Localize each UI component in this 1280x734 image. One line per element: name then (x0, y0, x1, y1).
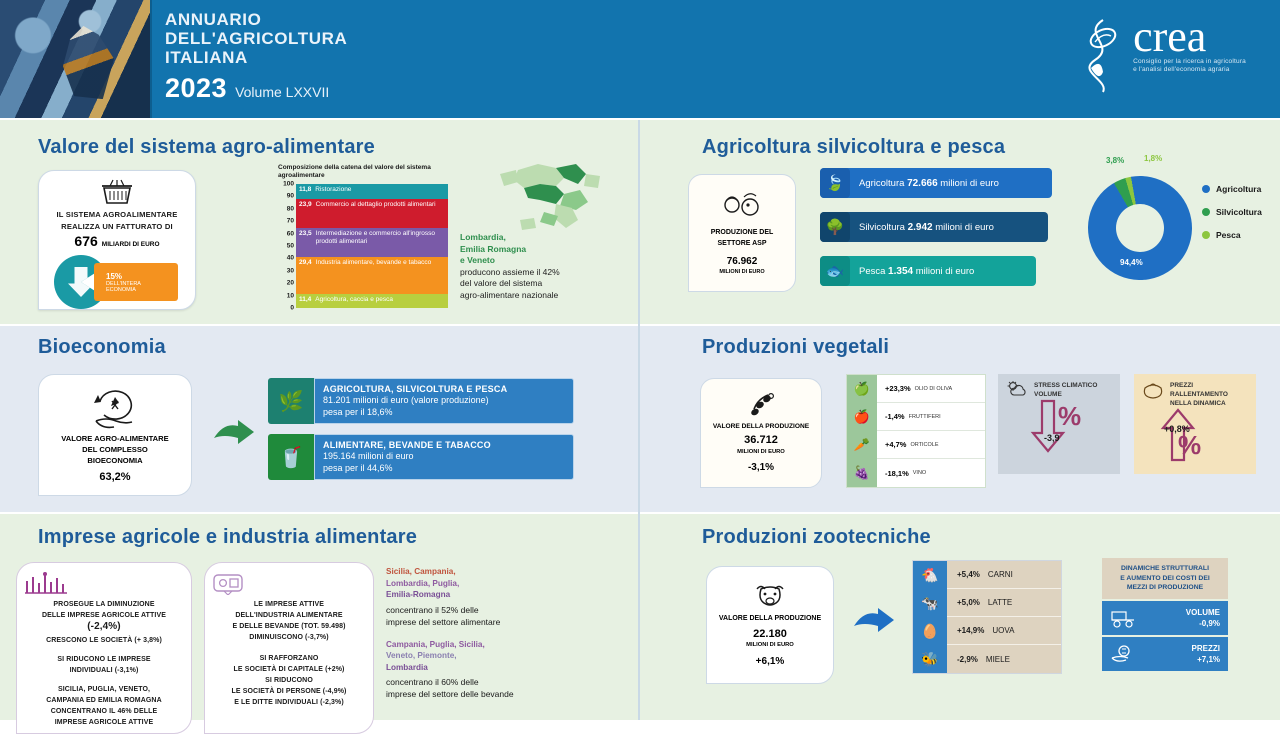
asp-card-unit: MILIONI DI EURO (719, 269, 764, 275)
weather-icon (1006, 381, 1028, 399)
dinamiche-prezzi-value: +7,1% (1192, 654, 1220, 665)
legend-item: Agricoltura (1202, 184, 1262, 194)
imp-right-p2d: LE SOCIETÀ DI PERSONE (-4,9%) (211, 686, 367, 697)
bio-card-line3: BIOECONOMIA (61, 455, 168, 466)
dinamiche-volume-label: VOLUME (1186, 607, 1220, 618)
zootecniche-label: CARNI (988, 570, 1013, 579)
asp-bar-label: Pesca 1.354 milioni di euro (850, 266, 974, 277)
bio-card-line2: DEL COMPLESSO (61, 444, 168, 455)
panel-title-vegetali: Produzioni vegetali (702, 336, 889, 359)
card-industria-alimentare: LE IMPRESE ATTIVE DELL'INDUSTRIA ALIMENT… (204, 562, 374, 734)
dinamiche-head-3: MEZZI DI PRODUZIONE (1106, 583, 1224, 593)
prezzi-line2: RALLENTAMENTO NELLA DINAMICA (1170, 390, 1250, 408)
panel-produzioni-zootecniche: Produzioni zootecniche VALORE DELLA PROD… (640, 514, 1280, 720)
asp-bar-pesca: 🐟Pesca 1.354 milioni di euro (820, 256, 1036, 286)
tractor-icon (1110, 608, 1136, 628)
donut-label-agricoltura: 94,4% (1120, 258, 1143, 267)
vegetable-icon: 🥕 (847, 431, 877, 459)
drink-regions-line3: Lombardia (386, 662, 586, 674)
bio-card-value: 63,2% (99, 471, 130, 483)
card-fatturato-unit: MILIARDI DI EURO (102, 241, 160, 248)
imp-right-p2e: E LE DITTE INDIVIDUALI (-2,3%) (211, 697, 367, 708)
chart-segment: 29,4Industria alimentare, bevande e taba… (296, 257, 448, 293)
box-prezzi: PREZZI RALLENTAMENTO NELLA DINAMICA % +0… (1134, 374, 1256, 474)
clima-value: -3,9 (1044, 433, 1060, 443)
vegetali-icon-column: 🍏🍎🥕🍇 (847, 375, 877, 487)
eggs-icon: 🥚 (913, 617, 947, 645)
food-regions-line1: Sicilia, Campania, (386, 566, 586, 578)
food-regions-line3: Emilia-Romagna (386, 589, 586, 601)
map-caption-l3: agro-alimentare nazionale (460, 290, 630, 302)
panel-agricoltura-silvicoltura-pesca: Agricoltura silvicoltura e pesca PRODUZI… (640, 120, 1280, 324)
donut-legend: AgricolturaSilvicolturaPesca (1202, 184, 1262, 253)
dinamiche-head-1: DINAMICHE STRUTTURALI (1106, 564, 1224, 574)
clima-line2: VOLUME (1034, 390, 1097, 399)
food-regions-line2: Lombardia, Puglia, (386, 578, 586, 590)
chart-segment: 23,5Intermediazione e commercio all'ingr… (296, 228, 448, 257)
share-tag-label-2: ECONOMIA (106, 287, 178, 293)
legend-item: Pesca (1202, 230, 1262, 240)
legend-label: Agricoltura (1216, 184, 1261, 194)
donut-label-silvicoltura: 3,8% (1106, 156, 1124, 165)
imp-left-p3a: SI RIDUCONO LE IMPRESE (23, 654, 185, 665)
zootecniche-rows: +5,4%CARNI+5,0%LATTE+14,9%UOVA-2,9%MIELE (947, 561, 1061, 673)
infographic-page: ANNUARIO DELL'AGRICOLTURA ITALIANA 2023 … (0, 0, 1280, 720)
share-tag-value: 15% (106, 272, 178, 281)
dinamiche-strutturali-box: DINAMICHE STRUTTURALI E AUMENTO DEI COST… (1102, 558, 1228, 671)
card-valore-zootecniche: VALORE DELLA PRODUZIONE 22.180 MILIONI D… (706, 566, 834, 684)
zoo-card-unit: MILIONI DI EURO (746, 642, 794, 648)
axis-tick: 40 (287, 255, 294, 262)
card-bioeconomia: VALORE AGRO-ALIMENTARE DEL COMPLESSO BIO… (38, 374, 192, 496)
imp-right-p2a: SI RAFFORZANO (211, 653, 367, 664)
zootecniche-row: +5,0%LATTE (947, 589, 1061, 617)
drink-regions-line1: Campania, Puglia, Sicilia, (386, 639, 586, 651)
map-block: Lombardia, Emilia Romagna e Veneto produ… (460, 160, 630, 301)
drink-regions-text2: imprese del settore delle bevande (386, 688, 586, 700)
olive-icon: 🍏 (847, 375, 877, 403)
zoo-card-amount: 22.180 (753, 628, 787, 640)
imp-left-p4a: SICILIA, PUGLIA, VENETO, (23, 684, 185, 695)
card-fatturato-line2: REALIZZA UN FATTURATO DI (61, 221, 173, 233)
zootecniche-value: -2,9% (957, 655, 978, 664)
imp-left-p1b: DELLE IMPRESE AGRICOLE ATTIVE (23, 610, 185, 621)
card-produzione-asp: PRODUZIONE DEL SETTORE ASP 76.962 MILION… (688, 174, 796, 292)
chart-title: Composizione della catena del valore del… (278, 164, 446, 180)
zootecniche-row: -2,9%MIELE (947, 645, 1061, 673)
axis-tick: 60 (287, 230, 294, 237)
panel-bioeconomia: Bioeconomia VALORE AGRO-ALIMENTARE DEL C… (0, 326, 638, 512)
zootecniche-row: +14,9%UOVA (947, 617, 1061, 645)
panel-produzioni-vegetali: Produzioni vegetali VALORE DELLA PRODUZI… (640, 326, 1280, 512)
imp-right-p1b: DELL'INDUSTRIA ALIMENTARE (211, 610, 367, 621)
zootecniche-value: +14,9% (957, 626, 984, 635)
vegetali-item-list: 🍏🍎🥕🍇 +23,3%OLIO DI OLIVA-1,4%FRUTTIFERI+… (846, 374, 986, 488)
clima-percent-symbol: % (1058, 401, 1081, 432)
bio-row-line2: pesa per il 44,6% (323, 462, 565, 474)
asp-icon (720, 191, 764, 221)
chart-y-axis: 100 90 80 70 60 50 40 30 20 10 0 (278, 184, 296, 308)
zootecniche-value: +5,4% (957, 570, 980, 579)
prezzi-arrow-graphic: % +0,8% (1134, 408, 1256, 464)
food-regions-text1: concentrano il 52% delle (386, 604, 586, 616)
segment-label: Agricoltura, caccia e pesca (315, 296, 393, 304)
box-stress-climatico: STRESS CLIMATICO VOLUME % -3,9 (998, 374, 1120, 474)
panel-title-asp: Agricoltura silvicoltura e pesca (702, 136, 1005, 159)
clima-arrow-graphic: % -3,9 (998, 399, 1120, 455)
pesca-icon: 🐟 (820, 256, 850, 286)
farm-icon (23, 571, 185, 595)
card-fatturato-amount: 676 (74, 233, 97, 249)
italy-map-icon (460, 160, 630, 232)
axis-tick: 20 (287, 280, 294, 287)
axis-tick: 50 (287, 243, 294, 250)
veg-card-amount: 36.712 (744, 434, 778, 446)
regions-block: Sicilia, Campania, Lombardia, Puglia, Em… (386, 566, 586, 700)
clima-line1: STRESS CLIMATICO (1034, 381, 1097, 390)
purse-icon (1142, 381, 1164, 408)
segment-value: 23,5 (299, 230, 312, 237)
card-fatturato: IL SISTEMA AGROALIMENTARE REALIZZA UN FA… (38, 170, 196, 310)
segment-value: 23,9 (299, 201, 312, 208)
legend-label: Pesca (1216, 230, 1241, 240)
bioeconomia-row-0: 🌿AGRICOLTURA, SILVICOLTURA E PESCA81.201… (268, 378, 574, 424)
zootecniche-value: +5,0% (957, 598, 980, 607)
segment-label: Commercio al dettaglio prodotti alimenta… (316, 201, 436, 209)
axis-tick: 30 (287, 267, 294, 274)
share-graphic: 15% DELL'INTERA ECONOMIA (54, 255, 180, 309)
bio-row-line1: 195.164 milioni di euro (323, 450, 565, 462)
dinamiche-header: DINAMICHE STRUTTURALI E AUMENTO DEI COST… (1102, 558, 1228, 599)
zootecniche-icon-column: 🐔🐄🥚🐝 (913, 561, 947, 673)
legend-swatch (1202, 185, 1210, 193)
vegetali-row: -18,1%VINO (877, 459, 985, 487)
zootecniche-item-list: 🐔🐄🥚🐝 +5,4%CARNI+5,0%LATTE+14,9%UOVA-2,9%… (912, 560, 1062, 674)
page-header: ANNUARIO DELL'AGRICOLTURA ITALIANA 2023 … (0, 0, 1280, 118)
imp-right-p1a: LE IMPRESE ATTIVE (211, 599, 367, 610)
agricoltura-icon: 🍃 (820, 168, 850, 198)
segment-value: 29,4 (299, 259, 312, 266)
zootecniche-row: +5,4%CARNI (947, 561, 1061, 589)
imp-right-p1c: E DELLE BEVANDE (TOT. 59.498) (211, 621, 367, 632)
vegetali-value: +23,3% (885, 384, 911, 393)
asp-bar-agricoltura: 🍃Agricoltura 72.666 milioni di euro (820, 168, 1052, 198)
drink-regions-text1: concentrano il 60% delle (386, 676, 586, 688)
panel-title-valore: Valore del sistema agro-alimentare (38, 136, 375, 159)
crea-logo: crea Consiglio per la ricerca in agricol… (1073, 16, 1246, 96)
asp-card-amount: 76.962 (727, 256, 758, 267)
axis-tick: 0 (290, 305, 294, 312)
vegetali-label: VINO (913, 470, 926, 476)
bio-row-head: AGRICOLTURA, SILVICOLTURA E PESCA (323, 384, 565, 394)
legend-swatch (1202, 231, 1210, 239)
prezzi-line1: PREZZI (1170, 381, 1250, 390)
chart-segment: 11,8Ristorazione (296, 184, 448, 199)
vegetali-label: FRUTTIFERI (909, 414, 941, 420)
vegetali-value: +4,7% (885, 440, 906, 449)
map-regions: Lombardia, Emilia Romagna e Veneto (460, 232, 630, 267)
vegetali-rows: +23,3%OLIO DI OLIVA-1,4%FRUTTIFERI+4,7%O… (877, 375, 985, 487)
imp-right-p2c: SI RIDUCONO (211, 675, 367, 686)
food-regions-text2: imprese del settore alimentare (386, 616, 586, 628)
chart-segment: 11,4Agricoltura, caccia e pesca (296, 294, 448, 308)
vegetali-label: OLIO DI OLIVA (915, 386, 953, 392)
publication-title: ANNUARIO DELL'AGRICOLTURA ITALIANA 2023 … (165, 10, 347, 104)
imp-left-p2: CRESCONO LE SOCIETÀ (+ 3,8%) (23, 635, 185, 646)
legend-label: Silvicoltura (1216, 207, 1262, 217)
panel-title-imprese: Imprese agricole e industria alimentare (38, 526, 417, 549)
imp-right-p2b: LE SOCIETÀ DI CAPITALE (+2%) (211, 664, 367, 675)
axis-tick: 10 (287, 292, 294, 299)
imp-right-p1d: DIMINUISCONO (-3,7%) (211, 632, 367, 643)
chart-segment: 23,9Commercio al dettaglio prodotti alim… (296, 199, 448, 229)
dinamiche-prezzi-label: PREZZI (1192, 643, 1220, 654)
legend-item: Silvicoltura (1202, 207, 1262, 217)
drink-regions-line2: Veneto, Piemonte, (386, 650, 586, 662)
grape-icon: 🍇 (847, 459, 877, 487)
fruit-icon: 🍎 (847, 403, 877, 431)
factory-icon (211, 571, 367, 595)
title-line-1: ANNUARIO (165, 10, 347, 29)
vegetali-label: ORTICOLE (910, 442, 938, 448)
axis-tick: 90 (287, 193, 294, 200)
cow-head-icon: 🐄 (913, 589, 947, 617)
veg-card-unit: MILIONI DI EURO (737, 449, 785, 455)
crea-wordmark: crea (1133, 16, 1246, 58)
crea-helix-icon (1073, 16, 1125, 96)
segment-label: Intermediazione e commercio all'ingrosso… (316, 230, 445, 246)
vegetali-value: -18,1% (885, 469, 909, 478)
segment-label: Industria alimentare, bevande e tabacco (316, 259, 432, 267)
card-fatturato-line1: IL SISTEMA AGROALIMENTARE (56, 209, 177, 221)
axis-tick: 70 (287, 218, 294, 225)
imp-left-p4c: CONCENTRANO IL 46% DELLE (23, 706, 185, 717)
cow-icon (751, 583, 789, 609)
bio-card-line1: VALORE AGRO-ALIMENTARE (61, 433, 168, 444)
silvicoltura-icon: 🌳 (820, 212, 850, 242)
money-icon (1110, 644, 1136, 664)
asp-bar-label: Agricoltura 72.666 milioni di euro (850, 178, 999, 189)
imp-left-p4d: IMPRESE AGRICOLE ATTIVE (23, 717, 185, 728)
basket-icon: 🥤 (268, 434, 314, 480)
chart-stacked-bar: 11,8Ristorazione23,9Commercio al dettagl… (296, 184, 448, 308)
veg-card-delta: -3,1% (748, 462, 774, 473)
zootecniche-label: UOVA (992, 626, 1014, 635)
prezzi-percent-symbol: % (1178, 430, 1201, 461)
map-caption: Lombardia, Emilia Romagna e Veneto produ… (460, 232, 630, 301)
title-line-2: DELL'AGRICOLTURA (165, 29, 347, 48)
map-caption-l1: producono assieme il 42% (460, 267, 630, 279)
axis-tick: 100 (283, 181, 294, 188)
chart-donut-asp: 3,8% 1,8% 94,4% AgricolturaSilvicolturaP… (1070, 154, 1270, 304)
vegetali-row: +4,7%ORTICOLE (877, 431, 985, 459)
card-imprese-agricole: PROSEGUE LA DIMINUZIONE DELLE IMPRESE AG… (16, 562, 192, 734)
segment-value: 11,8 (299, 186, 311, 193)
agricoltura-silvicoltura-pesca-icon: 🌿 (268, 378, 314, 424)
asp-bar-silvicoltura: 🌳Silvicoltura 2.942 milioni di euro (820, 212, 1048, 242)
basket-icon (100, 179, 134, 205)
bio-row-line2: pesa per il 18,6% (323, 406, 565, 418)
olive-branch-icon (746, 393, 776, 419)
title-line-3: ITALIANA (165, 48, 347, 67)
chicken-icon: 🐔 (913, 561, 947, 589)
panel-title-bioeconomia: Bioeconomia (38, 336, 166, 359)
bioeconomia-row-1: 🥤ALIMENTARE, BEVANDE E TABACCO195.164 mi… (268, 434, 574, 480)
blue-arrow-icon (852, 608, 898, 636)
vegetali-value: -1,4% (885, 412, 905, 421)
zootecniche-label: LATTE (988, 598, 1012, 607)
donut-label-pesca: 1,8% (1144, 154, 1162, 163)
segment-value: 11,4 (299, 296, 311, 303)
veg-card-line1: VALORE DELLA PRODUZIONE (713, 423, 809, 430)
prezzi-value: +0,8% (1164, 424, 1190, 434)
green-arrow-icon (212, 420, 258, 448)
share-tag: 15% DELL'INTERA ECONOMIA (94, 263, 178, 301)
vegetali-row: -1,4%FRUTTIFERI (877, 403, 985, 431)
dinamiche-head-2: E AUMENTO DEI COSTI DEI (1106, 574, 1224, 584)
bio-row-head: ALIMENTARE, BEVANDE E TABACCO (323, 440, 565, 450)
panel-valore-sistema: Valore del sistema agro-alimentare IL SI… (0, 120, 638, 324)
map-caption-l2: del valore del sistema (460, 278, 630, 290)
bio-row-line1: 81.201 milioni di euro (valore produzion… (323, 394, 565, 406)
asp-card-line2: SETTORE ASP (711, 238, 774, 249)
imp-left-p1c: (-2,4%) (87, 621, 120, 632)
axis-tick: 80 (287, 205, 294, 212)
panel-title-zootecniche: Produzioni zootecniche (702, 526, 931, 549)
imp-left-p3b: INDIVIDUALI (-3,1%) (70, 667, 139, 674)
title-year: 2023 (165, 73, 227, 104)
donut-ring (1080, 168, 1200, 288)
imp-left-p1a: PROSEGUE LA DIMINUZIONE (23, 599, 185, 610)
crea-subtitle-2: e l'analisi dell'economia agraria (1133, 66, 1246, 74)
dinamiche-volume-value: -0,9% (1186, 618, 1220, 629)
asp-bar-label: Silvicoltura 2.942 milioni di euro (850, 222, 994, 233)
legend-swatch (1202, 208, 1210, 216)
vegetali-row: +23,3%OLIO DI OLIVA (877, 375, 985, 403)
chart-catena-valore: Composizione della catena del valore del… (278, 164, 448, 308)
segment-label: Ristorazione (315, 186, 351, 194)
imp-left-p4b: CAMPANIA ED EMILIA ROMAGNA (23, 695, 185, 706)
zoo-card-line1: VALORE DELLA PRODUZIONE (719, 615, 821, 622)
recycle-hand-icon (88, 385, 142, 431)
honey-icon: 🐝 (913, 645, 947, 673)
zootecniche-label: MIELE (986, 655, 1010, 664)
cover-artwork (0, 0, 152, 118)
title-volume: Volume LXXVII (235, 84, 329, 100)
asp-card-line1: PRODUZIONE DEL (711, 227, 774, 238)
zoo-card-delta: +6,1% (756, 656, 785, 667)
card-valore-vegetali: VALORE DELLA PRODUZIONE 36.712 MILIONI D… (700, 378, 822, 488)
dinamiche-row-volume: VOLUME -0,9% (1102, 601, 1228, 635)
crea-subtitle-1: Consiglio per la ricerca in agricoltura (1133, 58, 1246, 66)
dinamiche-row-prezzi: PREZZI +7,1% (1102, 637, 1228, 671)
panel-imprese-agricole: Imprese agricole e industria alimentare … (0, 514, 638, 720)
